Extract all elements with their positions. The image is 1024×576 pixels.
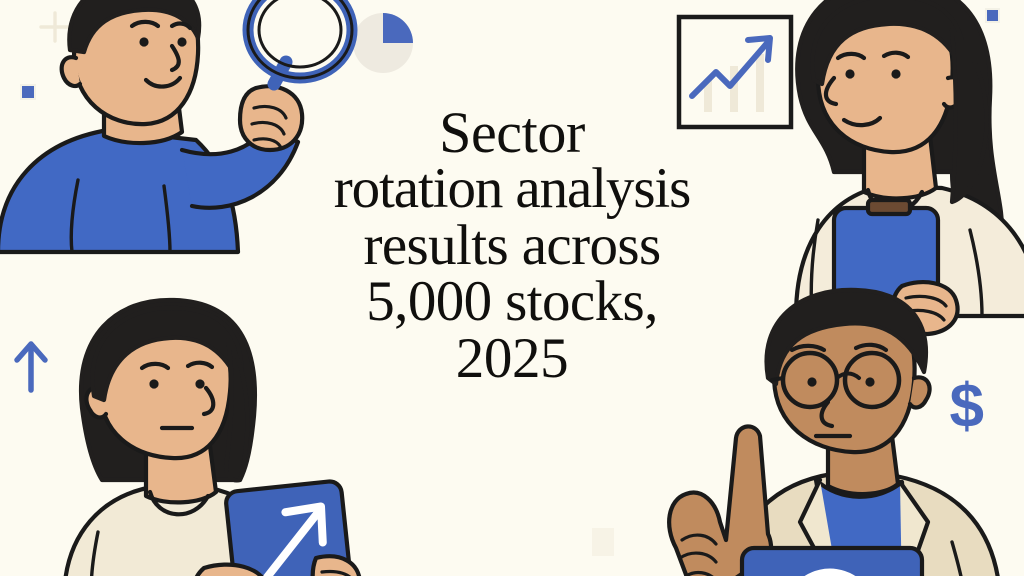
pie-chart-mark-icon	[352, 12, 414, 74]
analyst-with-clipboard-illustration	[756, 0, 1024, 316]
analyst-with-magnifier-illustration	[0, 0, 356, 260]
title-line: rotation analysis	[302, 161, 722, 217]
analyst-pointing-illustration	[634, 296, 1024, 576]
poster-canvas: $	[0, 0, 1024, 576]
title-line: results across	[302, 218, 722, 274]
arrow-up-mark-icon	[10, 336, 52, 394]
analyst-with-tablet-illustration	[54, 300, 374, 576]
square-mark-faint-icon	[592, 528, 614, 556]
title-line: Sector	[302, 104, 722, 161]
